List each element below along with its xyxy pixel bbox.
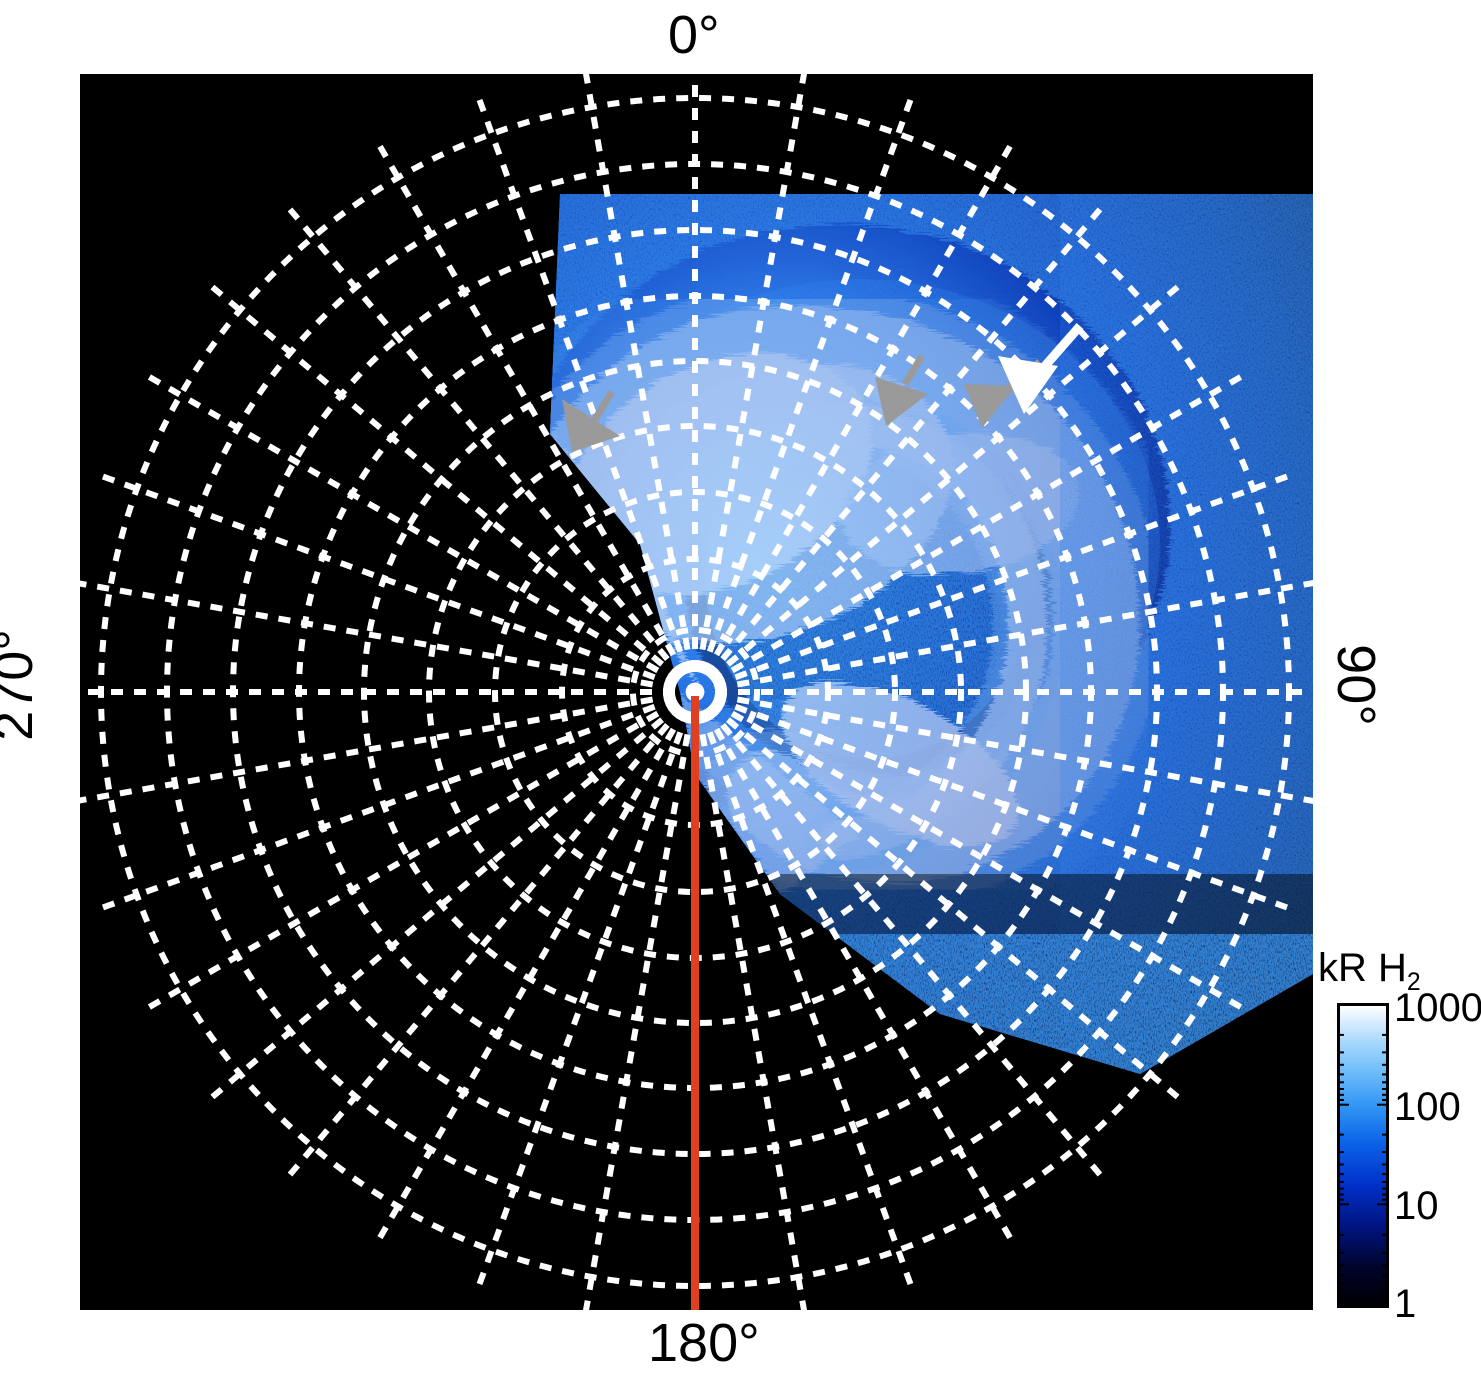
figure-root: 0° 180° 270° 90° — [0, 0, 1481, 1384]
colorbar-title: kR H2 — [1318, 948, 1421, 988]
angular-label-180: 180° — [648, 1316, 760, 1370]
colorbar-tick-1: 1 — [1394, 1284, 1416, 1324]
polar-plot-area — [80, 74, 1313, 1310]
colorbar-tick-1000: 1000 — [1394, 988, 1481, 1028]
polar-plot-svg — [80, 74, 1313, 1310]
colorbar: kR H2 — [1318, 948, 1481, 1328]
colorbar-ticks — [1337, 1003, 1389, 1308]
colorbar-tick-10: 10 — [1394, 1186, 1439, 1226]
angular-label-0: 0° — [668, 8, 720, 62]
angular-label-90: 90° — [1329, 644, 1383, 726]
colorbar-tick-100: 100 — [1394, 1087, 1461, 1127]
angular-label-270: 270° — [0, 629, 41, 741]
